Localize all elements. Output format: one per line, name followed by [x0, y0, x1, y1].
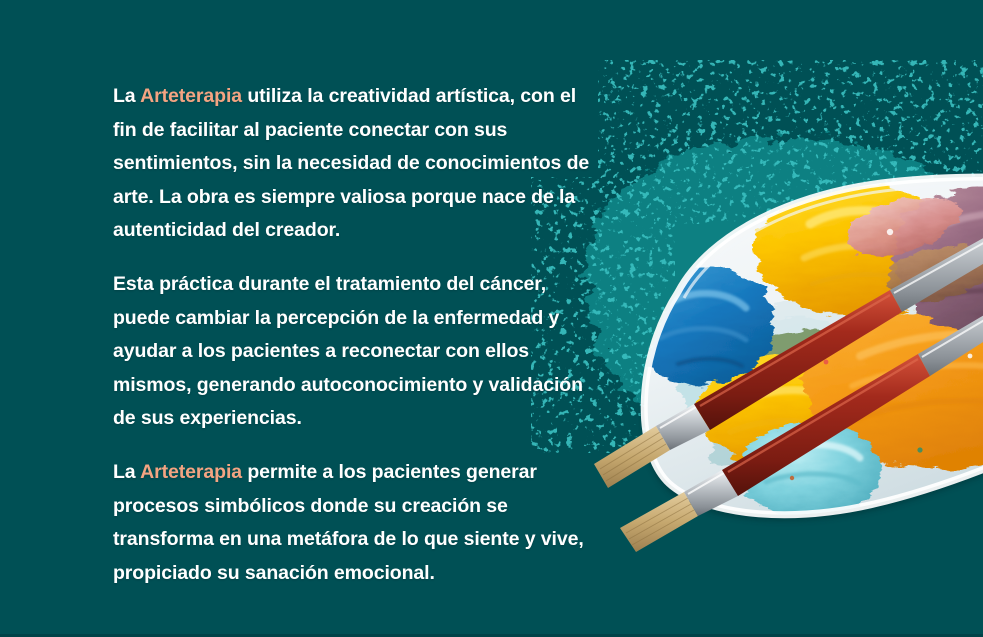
teal-paint-splatter-blob — [523, 60, 983, 460]
body-copy: La Arteterapia utiliza la creatividad ar… — [113, 80, 591, 590]
paragraph-3-segment-1: La — [113, 461, 140, 483]
paragraph-2-segment-1: Esta práctica durante el tratamiento del… — [113, 273, 583, 429]
paragraph-3: La Arteterapia permite a los pacientes g… — [113, 456, 591, 590]
artist-palette-photo — [560, 120, 983, 560]
paragraph-1-segment-1: La — [113, 85, 140, 107]
paragraph-1: La Arteterapia utiliza la creatividad ar… — [113, 80, 591, 248]
paragraph-2: Esta práctica durante el tratamiento del… — [113, 268, 591, 436]
arteterapia-highlight: Arteterapia — [140, 461, 242, 483]
arteterapia-highlight: Arteterapia — [140, 85, 242, 107]
slide-root: La Arteterapia utiliza la creatividad ar… — [0, 0, 983, 637]
paragraph-1-segment-3: utiliza la creatividad artística, con el… — [113, 85, 589, 241]
